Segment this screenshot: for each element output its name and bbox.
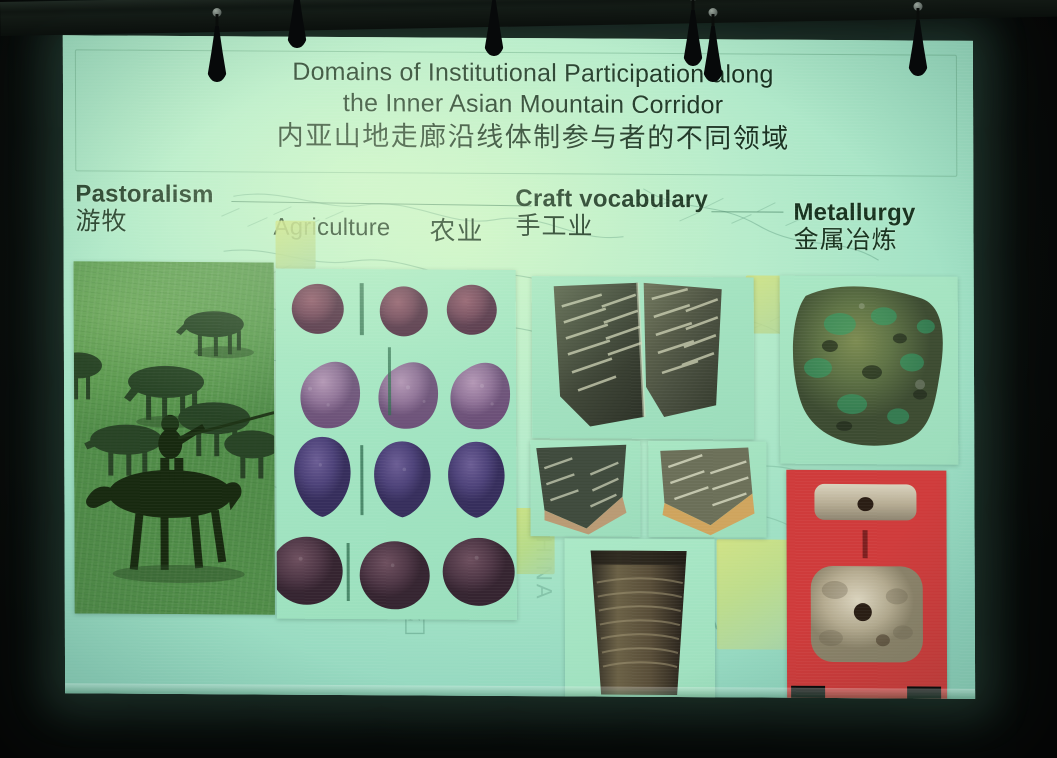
section-label-cn: 游牧 <box>75 209 213 237</box>
photo-craft-corrugated-vessel <box>565 538 716 699</box>
section-label-en: Metallurgy <box>793 200 915 227</box>
photo-metallurgy-stone-mould-on-red-board <box>786 470 947 699</box>
map-fragment <box>717 539 789 649</box>
section-label-en: Craft vocabulary <box>515 186 708 214</box>
section-label-cn: 金属冶炼 <box>793 227 915 255</box>
heading-divider-3 <box>973 223 975 224</box>
photo-agriculture-seed-specimens <box>276 269 517 620</box>
section-label-agriculture-cn-wrap: 农业 <box>429 216 483 246</box>
title-line-chinese: 内亚山地走廊沿线体制参与者的不同领域 <box>213 119 853 156</box>
photo-craft-large-sherd-pair <box>532 276 755 439</box>
photo-craft-sherd-lower-left <box>530 440 640 537</box>
photo-craft-sherd-lower-right <box>648 441 766 538</box>
section-heading-metallurgy: Metallurgy 金属冶炼 <box>793 200 915 256</box>
photo-pastoralism-herding <box>74 261 275 614</box>
projected-slide: N INDIA CHINA Domains of Institutional P… <box>63 35 975 699</box>
projection-screen-frame: N INDIA CHINA Domains of Institutional P… <box>23 9 1030 729</box>
title-line-1: Domains of Institutional Participation a… <box>213 56 853 90</box>
section-heading-pastoralism: Pastoralism 游牧 <box>75 181 213 237</box>
map-fragment <box>275 221 315 269</box>
dark-room-background: N INDIA CHINA Domains of Institutional P… <box>0 0 1057 758</box>
section-heading-craft: Craft vocabulary 手工业 <box>515 186 708 242</box>
title-line-2: the Inner Asian Mountain Corridor <box>213 87 853 121</box>
section-label-cn: 手工业 <box>515 213 708 242</box>
page-title: Domains of Institutional Participation a… <box>213 56 853 156</box>
section-label-cn: 农业 <box>429 217 483 246</box>
photo-metallurgy-copper-slag <box>780 276 959 465</box>
section-label-en: Pastoralism <box>75 181 213 208</box>
